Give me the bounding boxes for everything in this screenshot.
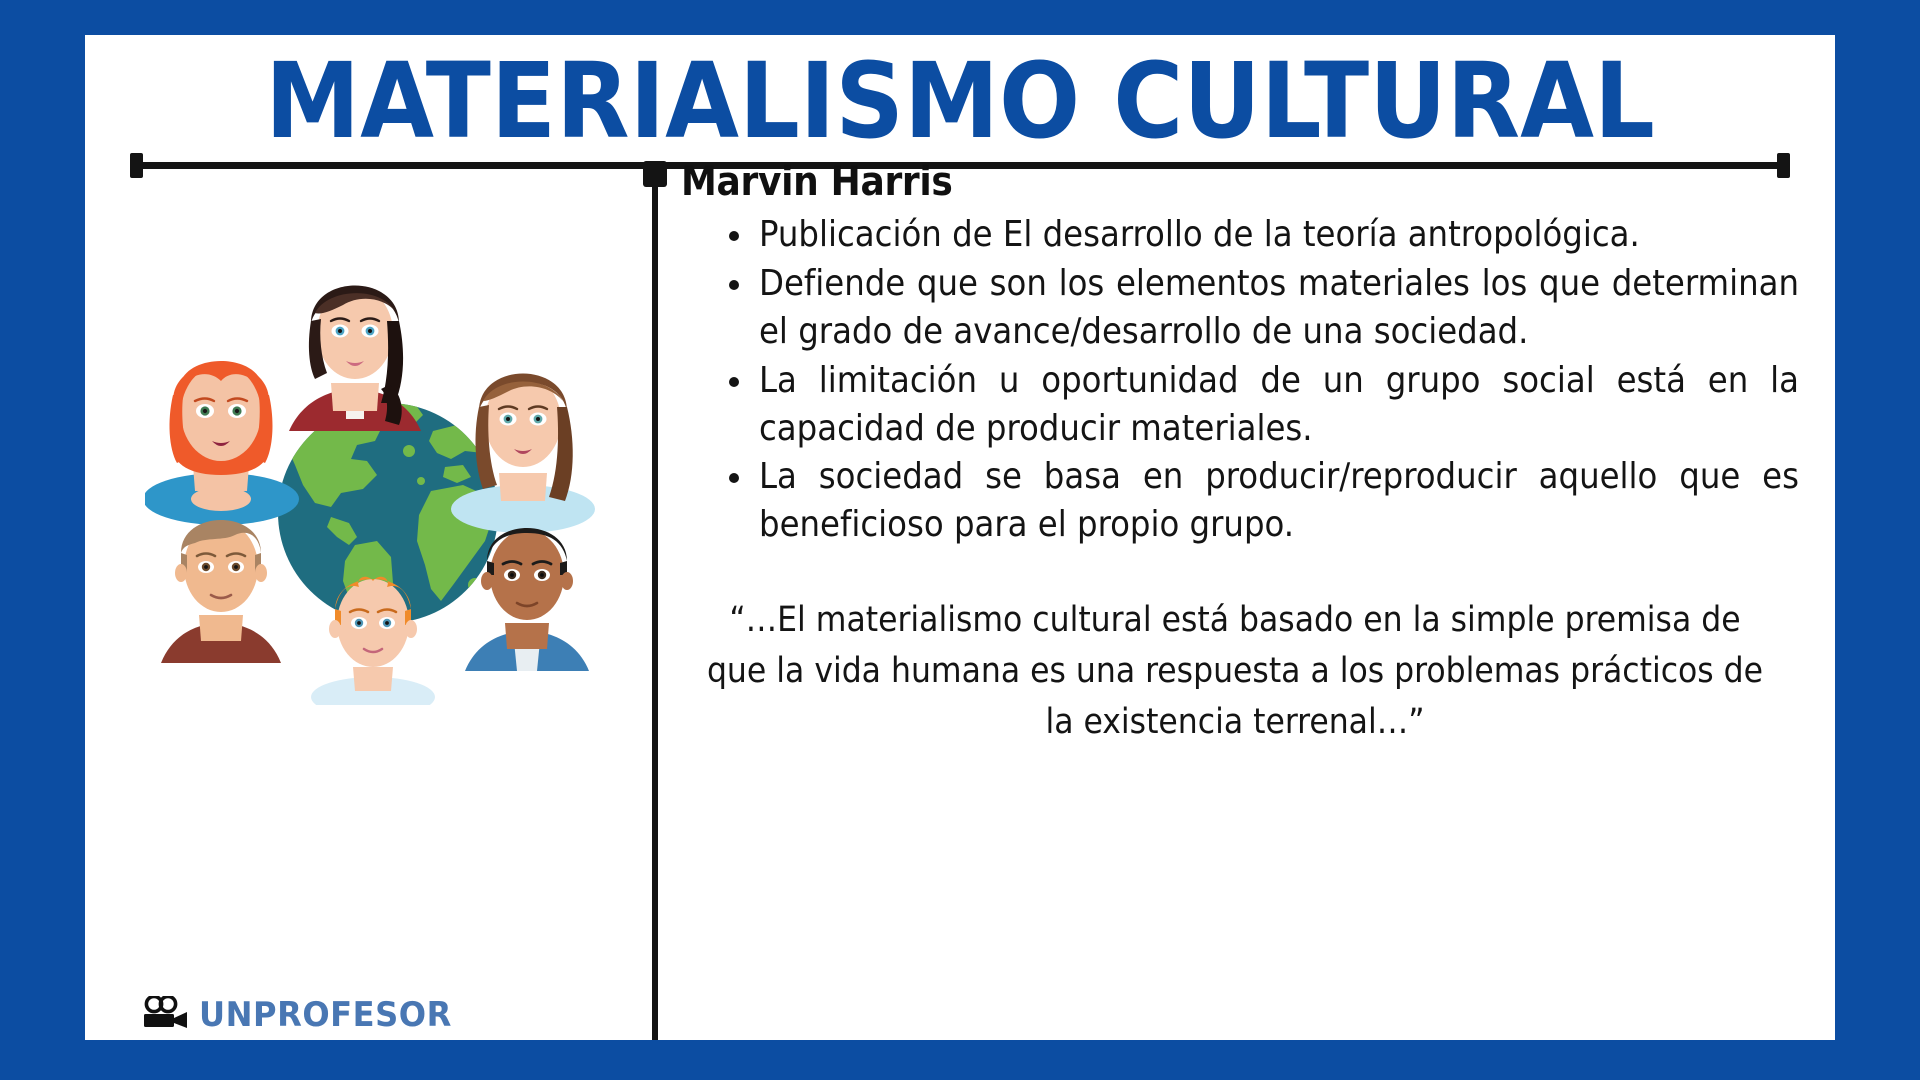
bullet-item: La limitación u oportunidad de un grupo …: [723, 357, 1799, 453]
quotation-text: “…El materialismo cultural está basado e…: [681, 595, 1799, 748]
avatar-darkhair-woman: [289, 286, 421, 432]
bullet-item: La sociedad se basa en producir/reproduc…: [723, 453, 1799, 549]
unprofesor-logo[interactable]: UNPROFESOR: [143, 995, 440, 1035]
unprofesor-logo-text: UNPROFESOR: [199, 995, 452, 1035]
slide-canvas: MATERIALISMO CULTURAL: [85, 35, 1835, 1040]
person-name-heading: Marvin Harris: [681, 159, 1799, 205]
content-column: Marvin Harris Publicación de El desarrol…: [681, 159, 1799, 748]
avatar-blond-man: [161, 520, 281, 663]
slide-root: MATERIALISMO CULTURAL: [0, 0, 1920, 1080]
page-title: MATERIALISMO CULTURAL: [85, 47, 1835, 156]
bullet-item: Publicación de El desarrollo de la teorí…: [723, 211, 1799, 259]
column-divider-line: [652, 161, 658, 1040]
people-around-globe-illustration: [145, 245, 625, 705]
bullet-item: Defiende que son los elementos materiale…: [723, 260, 1799, 356]
bullet-list: Publicación de El desarrollo de la teorí…: [681, 211, 1799, 549]
video-camera-icon: [143, 996, 189, 1035]
avatar-redhead-woman: [145, 361, 299, 525]
column-divider: [643, 161, 667, 1040]
